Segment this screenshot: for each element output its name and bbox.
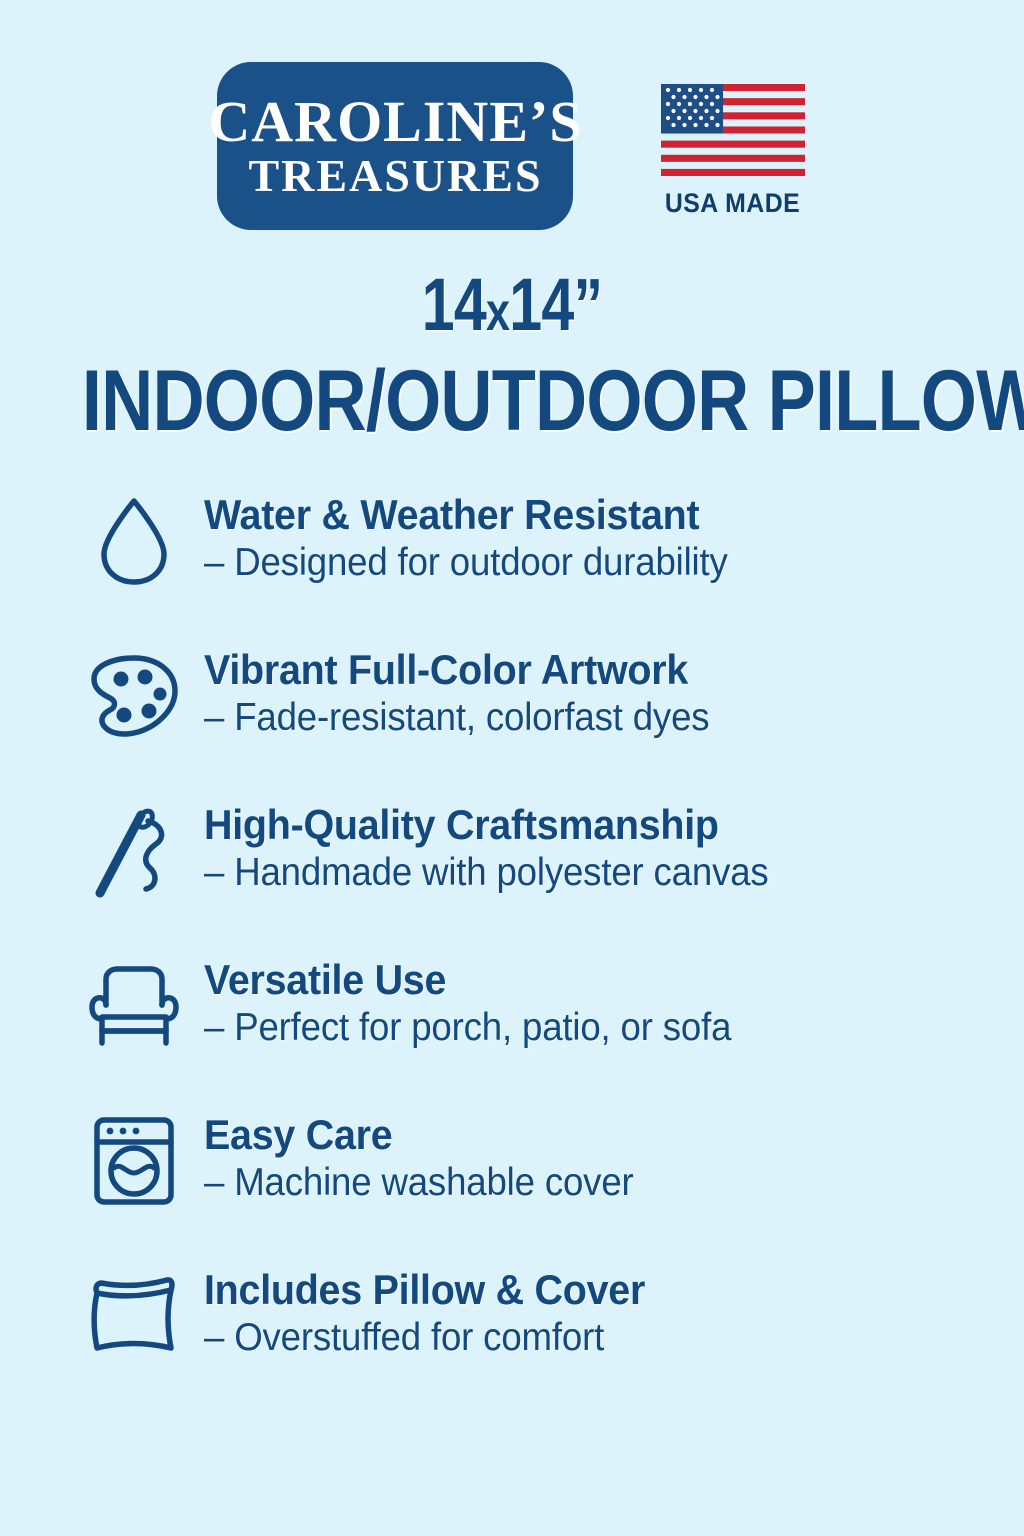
product-size-title: 14x14” (102, 268, 921, 342)
brand-name-line1: CAROLINE’S (208, 93, 582, 151)
header: CAROLINE’S TREASURES (0, 0, 1024, 230)
feature-text: Easy Care – Machine washable cover (204, 1110, 661, 1205)
pillow-icon (86, 1265, 182, 1361)
list-item: Vibrant Full-Color Artwork – Fade-resist… (86, 645, 1024, 800)
size-x: x (486, 282, 509, 342)
feature-subtitle: – Overstuffed for comfort (204, 1316, 645, 1360)
list-item: Easy Care – Machine washable cover (86, 1110, 1024, 1265)
size-suffix: 14” (509, 263, 602, 346)
feature-text: Includes Pillow & Cover – Overstuffed fo… (204, 1265, 673, 1360)
usa-made-badge: USA MADE (659, 62, 806, 219)
feature-title: Easy Care (204, 1112, 634, 1157)
water-drop-icon (86, 490, 182, 586)
usa-flag-icon (661, 84, 805, 176)
feature-text: High-Quality Craftsmanship – Handmade wi… (204, 800, 805, 895)
feature-text: Vibrant Full-Color Artwork – Fade-resist… (204, 645, 742, 740)
page-title: INDOOR/OUTDOOR PILLOW (82, 358, 942, 444)
usa-made-label: USA MADE (665, 188, 800, 219)
feature-text: Water & Weather Resistant – Designed for… (204, 490, 761, 585)
feature-subtitle: – Perfect for porch, patio, or sofa (204, 1006, 731, 1050)
armchair-icon (86, 955, 182, 1051)
list-item: Water & Weather Resistant – Designed for… (86, 490, 1024, 645)
feature-title: Water & Weather Resistant (204, 492, 728, 537)
washing-machine-icon (86, 1110, 182, 1206)
feature-subtitle: – Handmade with polyester canvas (204, 851, 769, 895)
feature-subtitle: – Designed for outdoor durability (204, 541, 728, 585)
feature-title: Vibrant Full-Color Artwork (204, 647, 709, 692)
feature-subtitle: – Machine washable cover (204, 1161, 634, 1205)
list-item: Versatile Use – Perfect for porch, patio… (86, 955, 1024, 1110)
brand-logo-badge: CAROLINE’S TREASURES (217, 62, 573, 230)
list-item: High-Quality Craftsmanship – Handmade wi… (86, 800, 1024, 955)
product-infographic: CAROLINE’S TREASURES (0, 0, 1024, 1536)
feature-subtitle: – Fade-resistant, colorfast dyes (204, 696, 709, 740)
paint-palette-icon (86, 645, 182, 741)
size-prefix: 14 (422, 263, 486, 346)
feature-title: Includes Pillow & Cover (204, 1267, 645, 1312)
brand-name-line2: TREASURES (248, 153, 542, 199)
feature-list: Water & Weather Resistant – Designed for… (0, 490, 1024, 1420)
needle-thread-icon (86, 800, 182, 896)
feature-title: High-Quality Craftsmanship (204, 802, 769, 847)
feature-text: Versatile Use – Perfect for porch, patio… (204, 955, 765, 1050)
list-item: Includes Pillow & Cover – Overstuffed fo… (86, 1265, 1024, 1420)
feature-title: Versatile Use (204, 957, 731, 1002)
